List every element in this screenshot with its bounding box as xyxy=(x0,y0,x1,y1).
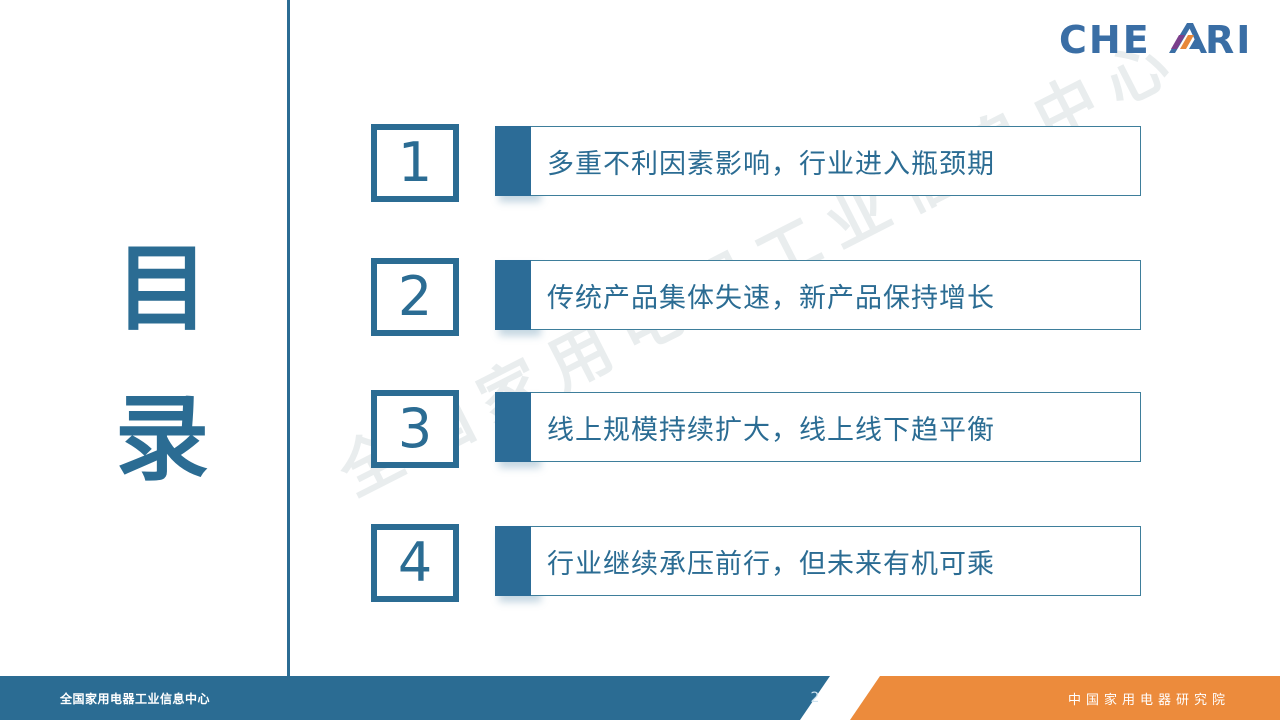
toc-number-1: 1 xyxy=(398,136,432,190)
toc-label-2: 传统产品集体失速，新产品保持增长 xyxy=(531,276,995,315)
toc-number-box-3: 3 xyxy=(371,390,459,468)
toc-number-2: 2 xyxy=(398,270,432,324)
slide-footer: 全国家用电器工业信息中心 2 中国家用电器研究院 xyxy=(0,676,1280,720)
toc-label-4: 行业继续承压前行，但未来有机可乘 xyxy=(531,542,995,581)
toc-number-box-1: 1 xyxy=(371,124,459,202)
toc-bar-tab-1 xyxy=(495,126,531,196)
toc-number-4: 4 xyxy=(398,536,432,590)
toc-bar-textbox-3: 线上规模持续扩大，线上线下趋平衡 xyxy=(531,392,1141,462)
toc-item-4[interactable]: 4 行业继续承压前行，但未来有机可乘 xyxy=(371,522,1141,602)
toc-item-3[interactable]: 3 线上规模持续扩大，线上线下趋平衡 xyxy=(371,388,1141,468)
toc-bar-2[interactable]: 传统产品集体失速，新产品保持增长 xyxy=(495,260,1141,330)
footer-organization-right: 中国家用电器研究院 xyxy=(1068,676,1230,720)
toc-bar-3[interactable]: 线上规模持续扩大，线上线下趋平衡 xyxy=(495,392,1141,462)
toc-bar-tab-4 xyxy=(495,526,531,596)
footer-organization-left: 全国家用电器工业信息中心 xyxy=(60,676,210,720)
toc-label-1: 多重不利因素影响，行业进入瓶颈期 xyxy=(531,142,995,181)
toc-item-2[interactable]: 2 传统产品集体失速，新产品保持增长 xyxy=(371,256,1141,336)
toc-bar-textbox-4: 行业继续承压前行，但未来有机可乘 xyxy=(531,526,1141,596)
slide-canvas: 全国家用电器工业信息中心 CHE RI 目 录 1 xyxy=(0,0,1280,720)
toc-bar-textbox-1: 多重不利因素影响，行业进入瓶颈期 xyxy=(531,126,1141,196)
toc-bar-tab-2 xyxy=(495,260,531,330)
toc-item-1[interactable]: 1 多重不利因素影响，行业进入瓶颈期 xyxy=(371,122,1141,202)
toc-number-box-4: 4 xyxy=(371,524,459,602)
toc-bar-tab-3 xyxy=(495,392,531,462)
toc-list: 1 多重不利因素影响，行业进入瓶颈期 2 传统产品集体失速，新产品保持增长 xyxy=(0,0,1280,676)
page-number: 2 xyxy=(800,676,830,720)
toc-number-3: 3 xyxy=(398,402,432,456)
toc-bar-1[interactable]: 多重不利因素影响，行业进入瓶颈期 xyxy=(495,126,1141,196)
toc-bar-4[interactable]: 行业继续承压前行，但未来有机可乘 xyxy=(495,526,1141,596)
toc-label-3: 线上规模持续扩大，线上线下趋平衡 xyxy=(531,408,995,447)
toc-number-box-2: 2 xyxy=(371,258,459,336)
toc-bar-textbox-2: 传统产品集体失速，新产品保持增长 xyxy=(531,260,1141,330)
